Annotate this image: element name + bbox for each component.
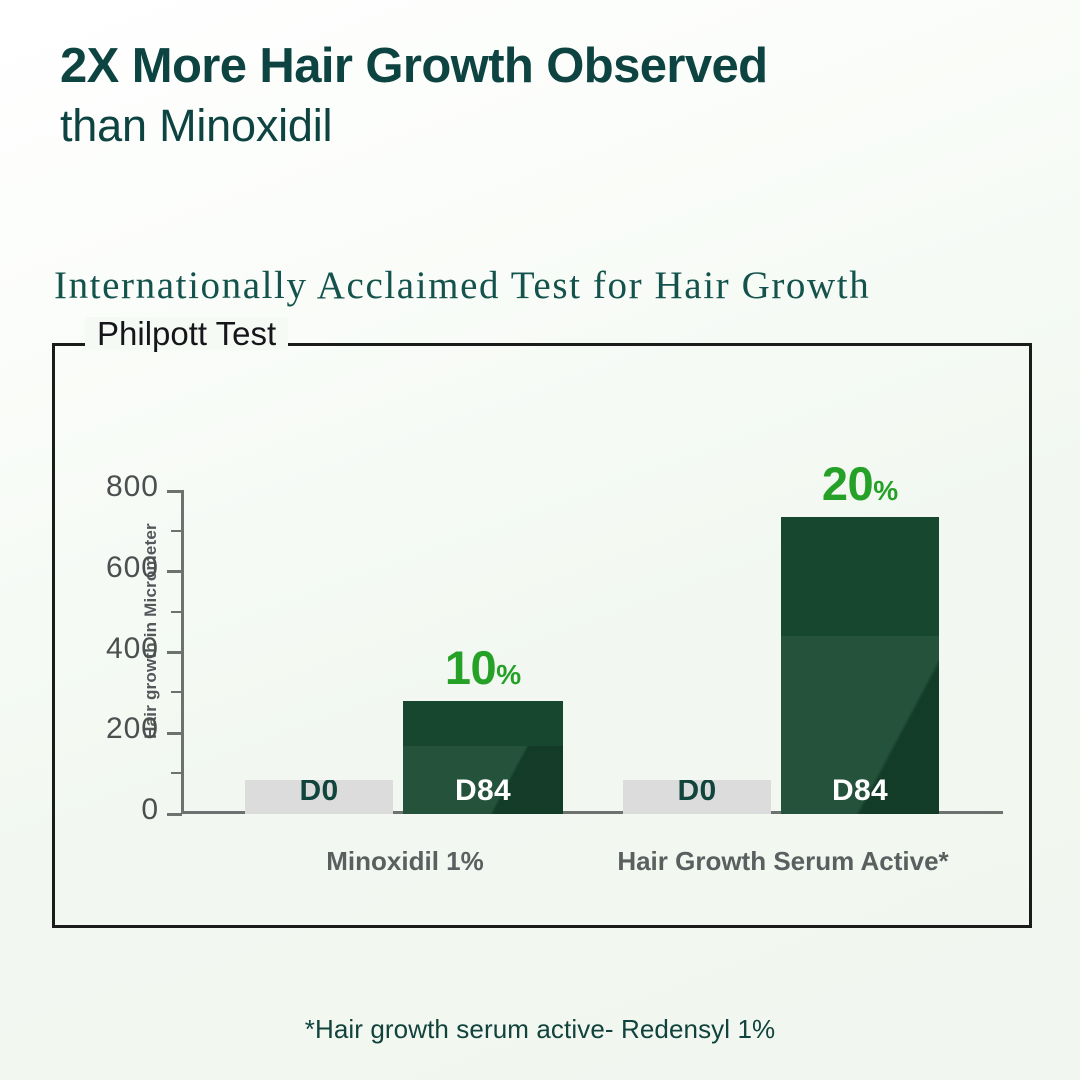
y-axis-tick-label: 600: [59, 551, 159, 585]
y-axis-tick-labels: 0200400600800: [53, 346, 159, 931]
callout-unit: %: [873, 475, 898, 506]
x-axis-group-label: Minoxidil 1%: [235, 844, 575, 879]
page-subtitle: than Minoxidil: [60, 99, 1020, 154]
bar-value-label: D84: [403, 774, 563, 808]
y-axis-minor-tick: [171, 691, 182, 693]
y-axis-minor-tick: [171, 772, 182, 774]
chart-plot-area: Hair growth in Micrometer 0200400600800 …: [55, 346, 1035, 931]
y-axis-tick-label: 800: [59, 470, 159, 504]
chart-bar: D84: [403, 701, 563, 814]
headline-block: 2X More Hair Growth Observed than Minoxi…: [60, 38, 1020, 154]
section-title: Internationally Acclaimed Test for Hair …: [54, 263, 870, 308]
callout-unit: %: [496, 659, 521, 690]
y-axis-major-tick: [167, 570, 182, 573]
chart-bar: D84: [781, 517, 939, 814]
bar-value-label: D0: [245, 780, 393, 808]
bar-percentage-callout: 10%: [403, 644, 563, 691]
callout-number: 20: [822, 457, 873, 510]
x-axis-group-label: Hair Growth Serum Active*: [613, 844, 953, 879]
y-axis-major-tick: [167, 732, 182, 735]
y-axis-major-tick: [167, 490, 182, 493]
bar-percentage-callout: 20%: [781, 460, 939, 507]
y-axis-major-tick: [167, 813, 182, 816]
y-axis-minor-tick: [171, 611, 182, 613]
page-title: 2X More Hair Growth Observed: [60, 38, 1020, 95]
chart-bar: D0: [245, 780, 393, 814]
y-axis-tick-label: 0: [59, 793, 159, 827]
y-axis-tick-label: 200: [59, 712, 159, 746]
bar-value-label: D84: [781, 774, 939, 808]
bar-value-label: D0: [623, 780, 771, 808]
chart-panel: Philpott Test Hair growth in Micrometer …: [52, 343, 1032, 928]
y-axis-tick-label: 400: [59, 632, 159, 666]
footnote: *Hair growth serum active- Redensyl 1%: [0, 1014, 1080, 1045]
y-axis-major-tick: [167, 651, 182, 654]
callout-number: 10: [445, 641, 496, 694]
y-axis-minor-tick: [171, 530, 182, 532]
chart-bar: D0: [623, 780, 771, 814]
